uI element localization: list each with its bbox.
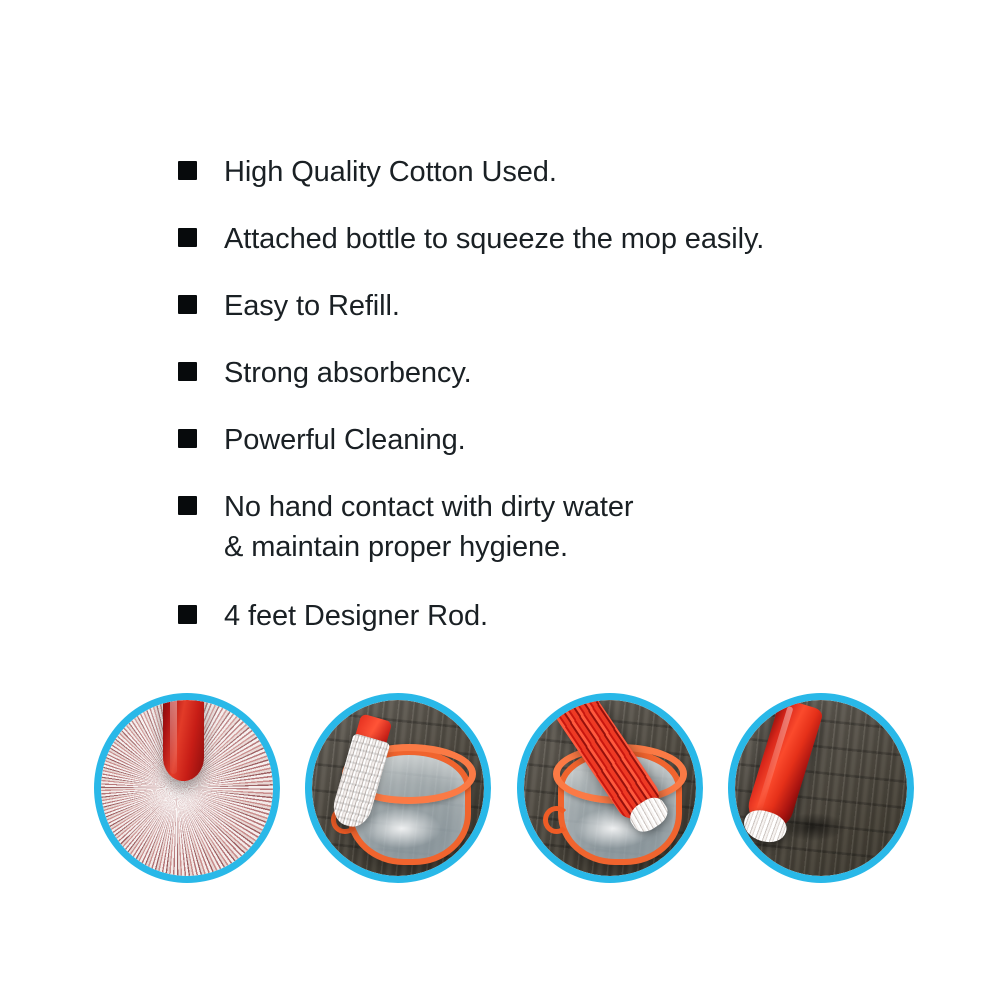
feature-text: Attached bottle to squeeze the mop easil… [224,219,764,259]
product-photo-strip [94,693,914,885]
photo-image-handle-over-bucket [524,700,696,876]
square-bullet-icon [178,496,197,515]
photo-circle-mop-on-floor [728,693,914,883]
mop-shadow [783,813,845,841]
feature-text: High Quality Cotton Used. [224,152,557,192]
feature-text: Powerful Cleaning. [224,420,466,460]
photo-circle-handle-over-bucket [517,693,703,883]
feature-item-no-hand-contact: No hand contact with dirty water & maint… [178,487,938,567]
feature-item-attached-bottle: Attached bottle to squeeze the mop easil… [178,219,938,259]
square-bullet-icon [178,605,197,624]
square-bullet-icon [178,362,197,381]
square-bullet-icon [178,429,197,448]
square-bullet-icon [178,161,197,180]
feature-text: Strong absorbency. [224,353,472,393]
bucket-handle-shape [543,806,571,834]
square-bullet-icon [178,295,197,314]
product-feature-page: High Quality Cotton Used. Attached bottl… [0,0,1000,1000]
feature-item-easy-refill: Easy to Refill. [178,286,938,326]
feature-text: No hand contact with dirty water & maint… [224,487,633,567]
feature-list: High Quality Cotton Used. Attached bottl… [178,152,938,663]
photo-circle-mop-in-bucket [305,693,491,883]
square-bullet-icon [178,228,197,247]
feature-item-powerful-cleaning: Powerful Cleaning. [178,420,938,460]
feature-item-strong-absorbency: Strong absorbency. [178,353,938,393]
feature-text: 4 feet Designer Rod. [224,596,488,636]
water-highlight [364,809,440,848]
photo-circle-mop-head-closeup [94,693,280,883]
photo-image-mop-head-closeup [101,700,273,876]
photo-image-mop-in-bucket [312,700,484,876]
feature-text: Easy to Refill. [224,286,400,326]
feature-item-designer-rod: 4 feet Designer Rod. [178,596,938,636]
photo-image-mop-on-floor [735,700,907,876]
feature-item-high-quality-cotton: High Quality Cotton Used. [178,152,938,192]
red-rod-shape [163,700,204,781]
